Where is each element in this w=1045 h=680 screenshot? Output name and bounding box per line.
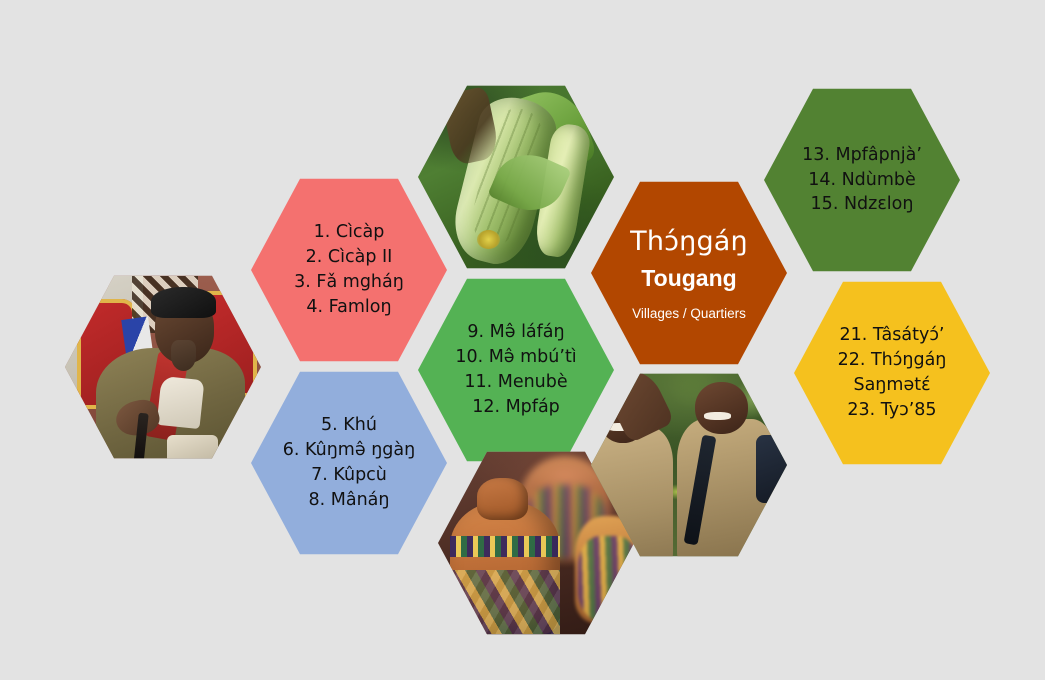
hex-cell-blue[interactable]: 5. Khú 6. Kûŋmə̂ ŋgàŋ 7. Kûpcù 8. Mânáŋ [251,368,447,558]
village-item: 10. Mə̂ mbú’tì [424,345,608,370]
hex-cell-yellow[interactable]: 21. Tâsátyɔ́’ 22. Thɔ́ŋgáŋ Saŋmətɛ́ 23. … [794,278,990,468]
village-item: 11. Menubè [424,370,608,395]
village-item: 7. Kûpcù [257,463,441,488]
village-item: 9. Mə̂ láfáŋ [424,320,608,345]
center-subtitle: Villages / Quartiers [597,304,781,323]
hex-cell-red-text: 1. Cìcàp 2. Cìcàp II 3. Fǎ mgháŋ 4. Faml… [251,220,447,319]
hex-cell-green[interactable]: 9. Mə̂ láfáŋ 10. Mə̂ mbú’tì 11. Menubè 1… [418,275,614,465]
village-item: 2. Cìcàp II [257,245,441,270]
village-item: 22. Thɔ́ŋgáŋ [800,348,984,373]
hex-cell-blue-text: 5. Khú 6. Kûŋmə̂ ŋgàŋ 7. Kûpcù 8. Mânáŋ [251,413,447,512]
center-label-group: Thɔ́ŋgáŋ Tougang Villages / Quartiers [591,223,787,323]
village-item: 5. Khú [257,413,441,438]
hex-cell-dark-green[interactable]: 13. Mpfâpnjà’ 14. Ndùmbè 15. Ndzɛloŋ [764,85,960,275]
photo-hex-maize [418,82,614,272]
elderly-man-seated-photo [65,272,261,462]
village-item: 3. Fǎ mgháŋ [257,270,441,295]
hex-cell-yellow-text: 21. Tâsátyɔ́’ 22. Thɔ́ŋgáŋ Saŋmətɛ́ 23. … [794,323,990,422]
village-item: 8. Mânáŋ [257,488,441,513]
hex-cell-dark-green-text: 13. Mpfâpnjà’ 14. Ndùmbè 15. Ndzɛloŋ [764,143,960,218]
maize-corn-cob-photo [418,82,614,272]
village-item: 13. Mpfâpnjà’ [770,143,954,168]
village-item: 4. Famloŋ [257,295,441,320]
village-item: 14. Ndùmbè [770,168,954,193]
hex-cell-green-text: 9. Mə̂ láfáŋ 10. Mə̂ mbú’tì 11. Menubè 1… [418,320,614,419]
village-item: 21. Tâsátyɔ́’ [800,323,984,348]
village-item: 12. Mpfáp [424,395,608,420]
village-item: 23. Tyɔ’85 [800,398,984,423]
center-name-french: Tougang [597,262,781,295]
hex-cell-red[interactable]: 1. Cìcàp 2. Cìcàp II 3. Fǎ mgháŋ 4. Faml… [251,175,447,365]
village-item: Saŋmətɛ́ [800,373,984,398]
center-name-local: Thɔ́ŋgáŋ [597,223,781,261]
village-item: 15. Ndzɛloŋ [770,192,954,217]
village-item: 1. Cìcàp [257,220,441,245]
honeycomb-infographic: 1. Cìcàp 2. Cìcàp II 3. Fǎ mgháŋ 4. Faml… [0,0,1045,680]
village-item: 6. Kûŋmə̂ ŋgàŋ [257,438,441,463]
hex-cell-center[interactable]: Thɔ́ŋgáŋ Tougang Villages / Quartiers [591,178,787,368]
photo-hex-elder [65,272,261,462]
